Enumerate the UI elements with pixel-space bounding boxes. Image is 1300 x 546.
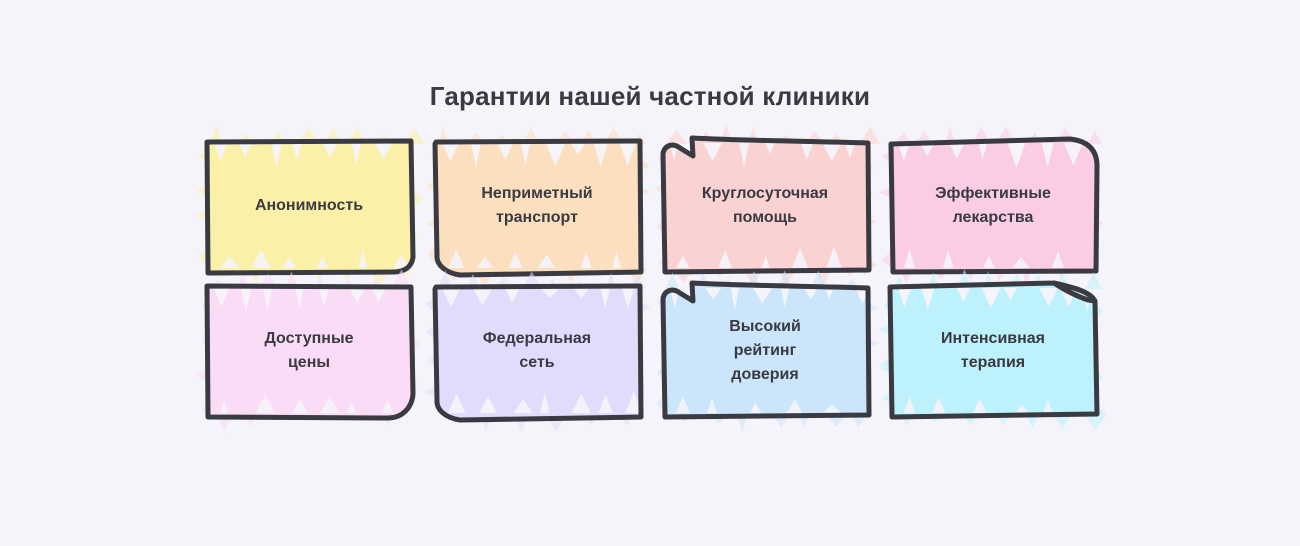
guarantee-card-grid: АнонимностьНеприметный транспортКруглосу… (206, 140, 1096, 420)
guarantee-card-label: Интенсивная терапия (890, 285, 1096, 416)
guarantee-card[interactable]: Эффективные лекарства (890, 140, 1096, 271)
guarantee-card[interactable]: Доступные цены (206, 285, 412, 416)
guarantee-card-label: Неприметный транспорт (434, 140, 640, 271)
guarantee-card-label: Высокий рейтинг доверия (662, 285, 868, 416)
guarantee-card[interactable]: Федеральная сеть (434, 285, 640, 416)
page-title: Гарантии нашей частной клиники (0, 80, 1300, 112)
guarantee-card-label: Анонимность (206, 140, 412, 271)
guarantee-card-label: Федеральная сеть (434, 285, 640, 416)
guarantee-card-label: Эффективные лекарства (890, 140, 1096, 271)
guarantee-card[interactable]: Анонимность (206, 140, 412, 271)
guarantee-card-label: Круглосуточная помощь (662, 140, 868, 271)
guarantee-card[interactable]: Высокий рейтинг доверия (662, 285, 868, 416)
guarantees-infographic: Гарантии нашей частной клиники Анонимнос… (0, 0, 1300, 546)
guarantee-card-label: Доступные цены (206, 285, 412, 416)
guarantee-card[interactable]: Неприметный транспорт (434, 140, 640, 271)
guarantee-card[interactable]: Интенсивная терапия (890, 285, 1096, 416)
guarantee-card[interactable]: Круглосуточная помощь (662, 140, 868, 271)
